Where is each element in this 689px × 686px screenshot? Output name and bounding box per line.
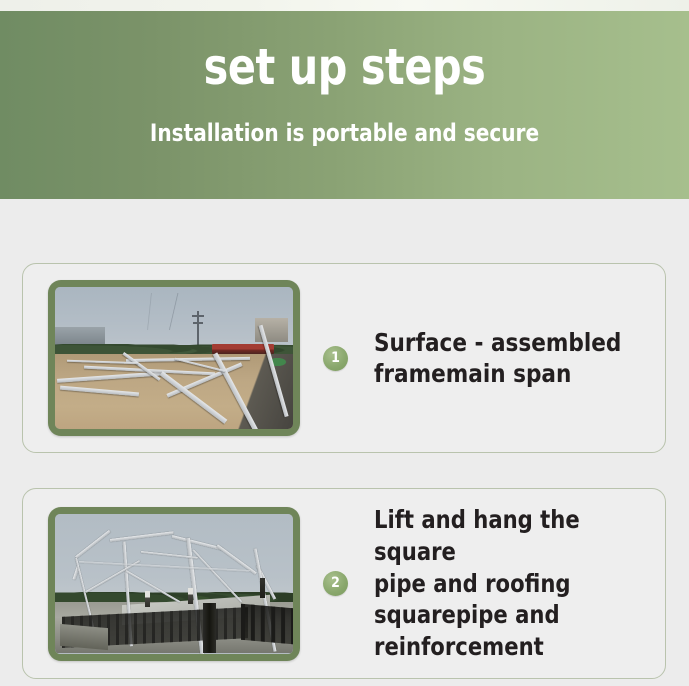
page-subtitle: Installation is portable and secure [24, 94, 665, 148]
step-2-text-line-3: squarepipe and [374, 599, 644, 631]
step-1-body: 1 Surface - assembled framemain span [300, 327, 665, 390]
photo-worker [188, 588, 193, 604]
step-2-text: Lift and hang the square pipe and roofin… [374, 504, 644, 663]
step-2-text-line-4: reinforcement [374, 631, 644, 663]
steps-list: 1 Surface - assembled framemain span [0, 199, 689, 679]
step-2-text-line-1: Lift and hang the square [374, 504, 644, 568]
step-2-body: 2 Lift and hang the square pipe and roof… [300, 504, 665, 663]
step-2-photo-frame [48, 507, 300, 661]
step-card-1[interactable]: 1 Surface - assembled framemain span [22, 263, 666, 453]
step-1-text-line-1: Surface - assembled [374, 327, 621, 359]
step-1-photo [55, 287, 293, 429]
step-2-photo [55, 514, 293, 654]
photo-crate [60, 623, 108, 650]
top-light-strip [0, 0, 689, 11]
photo-worker [145, 591, 150, 607]
photo-fence-right [241, 604, 293, 645]
hero-banner: set up steps Installation is portable an… [0, 11, 689, 199]
step-1-photo-frame [48, 280, 300, 436]
step-1-text: Surface - assembled framemain span [374, 327, 621, 390]
step-card-2[interactable]: 2 Lift and hang the square pipe and roof… [22, 488, 666, 679]
photo-worker [260, 578, 265, 598]
step-2-number-badge: 2 [323, 571, 348, 596]
photo-fence-post [203, 603, 216, 653]
step-2-text-line-2: pipe and roofing [374, 568, 644, 600]
page-title: set up steps [28, 11, 662, 94]
step-1-text-line-2: framemain span [374, 358, 621, 390]
photo-frame-pipes [55, 287, 293, 429]
step-1-number-badge: 1 [323, 346, 348, 371]
